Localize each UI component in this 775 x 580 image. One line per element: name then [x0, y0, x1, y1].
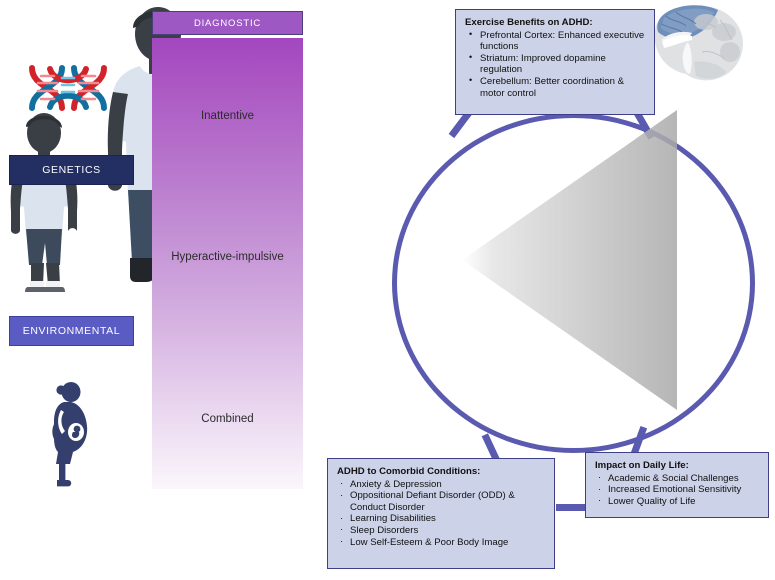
sidebar-item-genetics-label: GENETICS: [42, 164, 100, 176]
bullet-icon: •: [469, 75, 472, 87]
callout-comorbid-list: ·Anxiety & Depression ·Oppositional Defi…: [337, 479, 546, 549]
callout-exercise-list: •Prefrontal Cortex: Enhanced executive f…: [465, 30, 646, 100]
list-item: ·Learning Disabilities: [337, 513, 546, 525]
list-item: ·Oppositional Defiant Disorder (ODD) & C…: [337, 490, 546, 513]
list-item: •Prefrontal Cortex: Enhanced executive f…: [465, 30, 646, 53]
bullet-icon: •: [469, 29, 472, 41]
callout-comorbid-conditions: ADHD to Comorbid Conditions: ·Anxiety & …: [327, 458, 555, 569]
sidebar-item-environmental[interactable]: ENVIRONMENTAL: [9, 316, 134, 346]
list-item-text: Oppositional Defiant Disorder (ODD) & Co…: [350, 490, 515, 513]
diagnostic-header: DIAGNOSTIC: [152, 11, 303, 35]
list-item-text: Learning Disabilities: [350, 513, 436, 524]
bullet-icon: ·: [340, 536, 343, 548]
bullet-icon: ·: [340, 478, 343, 490]
bullet-icon: ·: [340, 524, 343, 536]
diagnostic-subtype-combined: Combined: [152, 413, 303, 425]
bullet-icon: ·: [340, 490, 343, 502]
list-item-text: Striatum: Improved dopamine regulation: [480, 53, 606, 76]
list-item-text: Increased Emotional Sensitivity: [608, 484, 741, 495]
child-silhouette: [0, 103, 88, 295]
sidebar-item-environmental-label: ENVIRONMENTAL: [23, 325, 120, 337]
list-item: ·Lower Quality of Life: [595, 496, 760, 508]
sidebar-item-genetics[interactable]: GENETICS: [9, 155, 134, 185]
callout-exercise-title: Exercise Benefits on ADHD:: [465, 17, 646, 29]
list-item-text: Sleep Disorders: [350, 525, 418, 536]
callout-impact-daily-life: Impact on Daily Life: ·Academic & Social…: [585, 452, 769, 518]
growth-wedge: [462, 110, 677, 410]
bullet-icon: ·: [598, 484, 601, 496]
callout-exercise-benefits: Exercise Benefits on ADHD: •Prefrontal C…: [455, 9, 655, 115]
list-item-text: Anxiety & Depression: [350, 479, 442, 490]
callout-impact-list: ·Academic & Social Challenges ·Increased…: [595, 473, 760, 508]
infographic-canvas: GENETICS ENVIRONMENTAL DIAGNOSTIC Inatte…: [0, 0, 775, 580]
bullet-icon: ·: [598, 495, 601, 507]
list-item-text: Prefrontal Cortex: Enhanced executive fu…: [480, 30, 644, 53]
list-item: •Striatum: Improved dopamine regulation: [465, 53, 646, 76]
diagnostic-subtype-inattentive: Inattentive: [152, 110, 303, 122]
pregnant-woman-icon: [40, 376, 100, 488]
list-item: ·Academic & Social Challenges: [595, 473, 760, 485]
list-item: ·Anxiety & Depression: [337, 479, 546, 491]
bullet-icon: ·: [598, 472, 601, 484]
diagnostic-header-label: DIAGNOSTIC: [194, 18, 261, 29]
dna-icon: [24, 62, 118, 114]
list-item-text: Low Self-Esteem & Poor Body Image: [350, 537, 508, 548]
list-item-text: Lower Quality of Life: [608, 496, 695, 507]
callout-impact-title: Impact on Daily Life:: [595, 460, 760, 472]
list-item: ·Increased Emotional Sensitivity: [595, 484, 760, 496]
bullet-icon: ·: [340, 513, 343, 525]
list-item: •Cerebellum: Better coordination & motor…: [465, 76, 646, 99]
list-item-text: Academic & Social Challenges: [608, 473, 739, 484]
list-item: ·Sleep Disorders: [337, 525, 546, 537]
list-item-text: Cerebellum: Better coordination & motor …: [480, 76, 624, 99]
bullet-icon: •: [469, 52, 472, 64]
list-item: ·Low Self-Esteem & Poor Body Image: [337, 537, 546, 549]
callout-comorbid-title: ADHD to Comorbid Conditions:: [337, 466, 546, 478]
diagnostic-subtype-hyperactive-impulsive: Hyperactive-impulsive: [152, 251, 303, 263]
